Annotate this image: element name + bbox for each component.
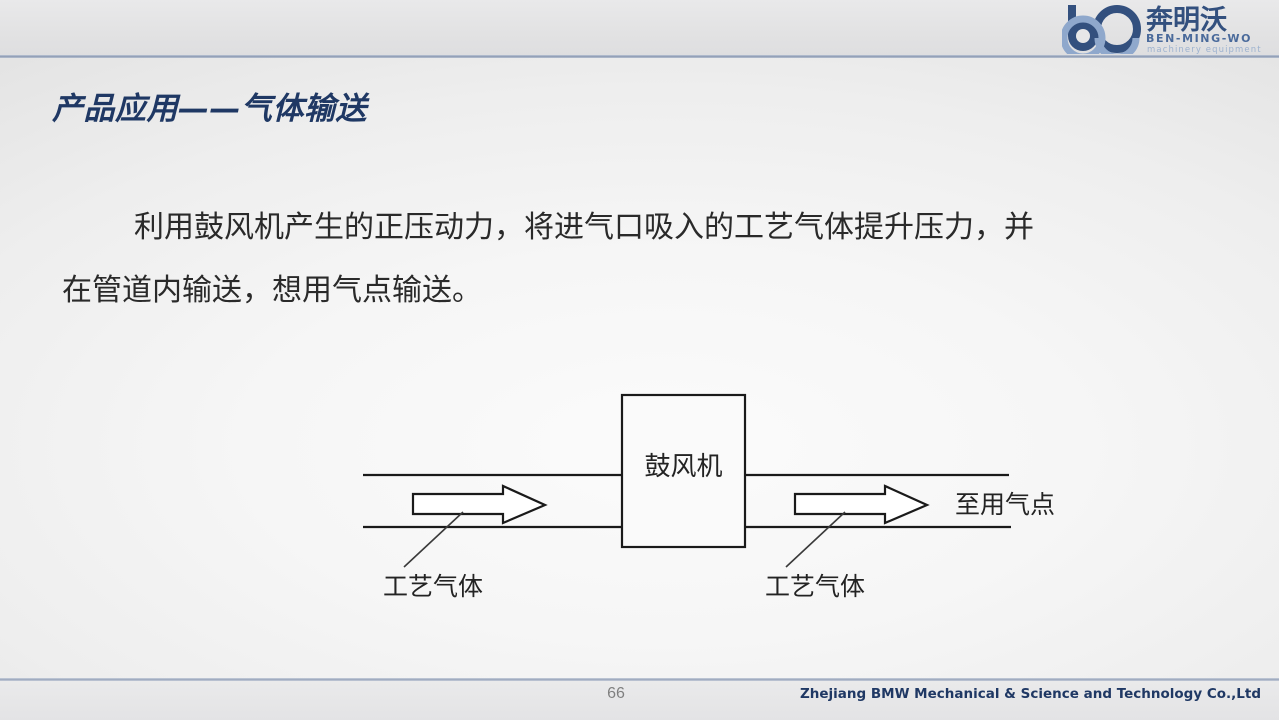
header-divider-rule [0, 55, 1279, 58]
logo-tagline: machinery equipment [1147, 45, 1262, 54]
company-logo: 奔明沃 BEN-MING-WO machinery equipment [1062, 2, 1274, 54]
leader-line-outlet [786, 512, 845, 567]
destination-label: 至用气点 [955, 490, 1055, 519]
outlet-gas-label: 工艺气体 [765, 572, 865, 601]
flow-arrow-outlet [795, 486, 927, 523]
blower-box-label: 鼓风机 [644, 452, 722, 482]
body-paragraph: 利用鼓风机产生的正压动力，将进气口吸入的工艺气体提升压力，并在管道内输送，想用气… [62, 196, 1062, 322]
inlet-gas-label: 工艺气体 [383, 572, 483, 601]
slide-canvas: 奔明沃 BEN-MING-WO machinery equipment 产品应用… [0, 0, 1279, 720]
logo-romanization: BEN-MING-WO [1146, 32, 1252, 45]
leader-line-inlet [404, 512, 463, 567]
bo-monogram-icon [1064, 5, 1137, 54]
blower-box [622, 395, 745, 547]
footer-company-name: Zhejiang BMW Mechanical & Science and Te… [800, 682, 1261, 706]
page-title: 产品应用——气体输送 [52, 83, 367, 128]
flow-arrow-inlet [413, 486, 545, 523]
